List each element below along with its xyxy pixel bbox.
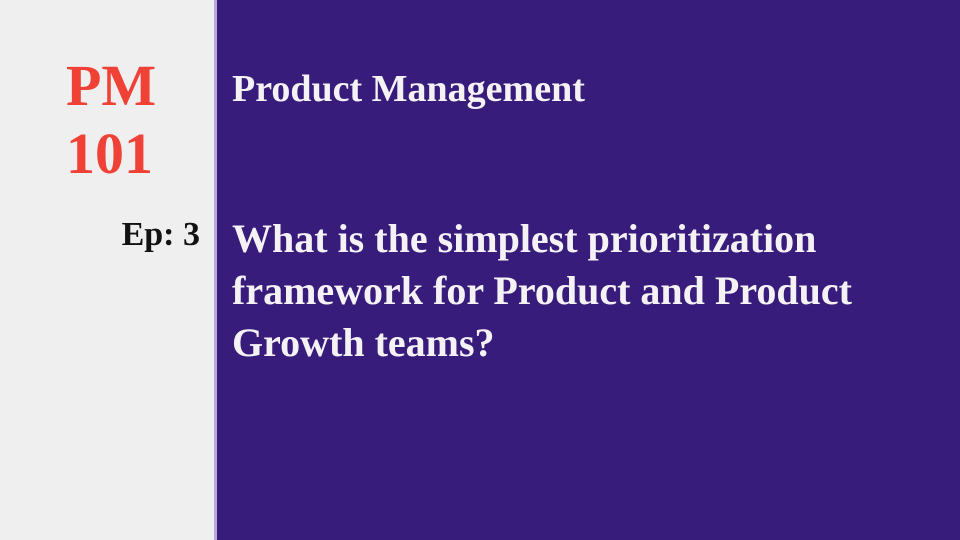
- question-text: What is the simplest prioritization fram…: [232, 213, 932, 369]
- title-slide: PM 101 Ep: 3 Product Management What is …: [0, 0, 960, 540]
- main-panel: Product Management What is the simplest …: [217, 0, 960, 540]
- episode-badge: Ep: 3: [122, 215, 200, 255]
- brand-logo: PM 101: [0, 52, 236, 188]
- brand-line-101: 101: [66, 120, 236, 188]
- sidebar-panel: PM 101 Ep: 3: [0, 0, 214, 540]
- brand-line-pm: PM: [66, 52, 236, 120]
- series-title: Product Management: [232, 66, 585, 112]
